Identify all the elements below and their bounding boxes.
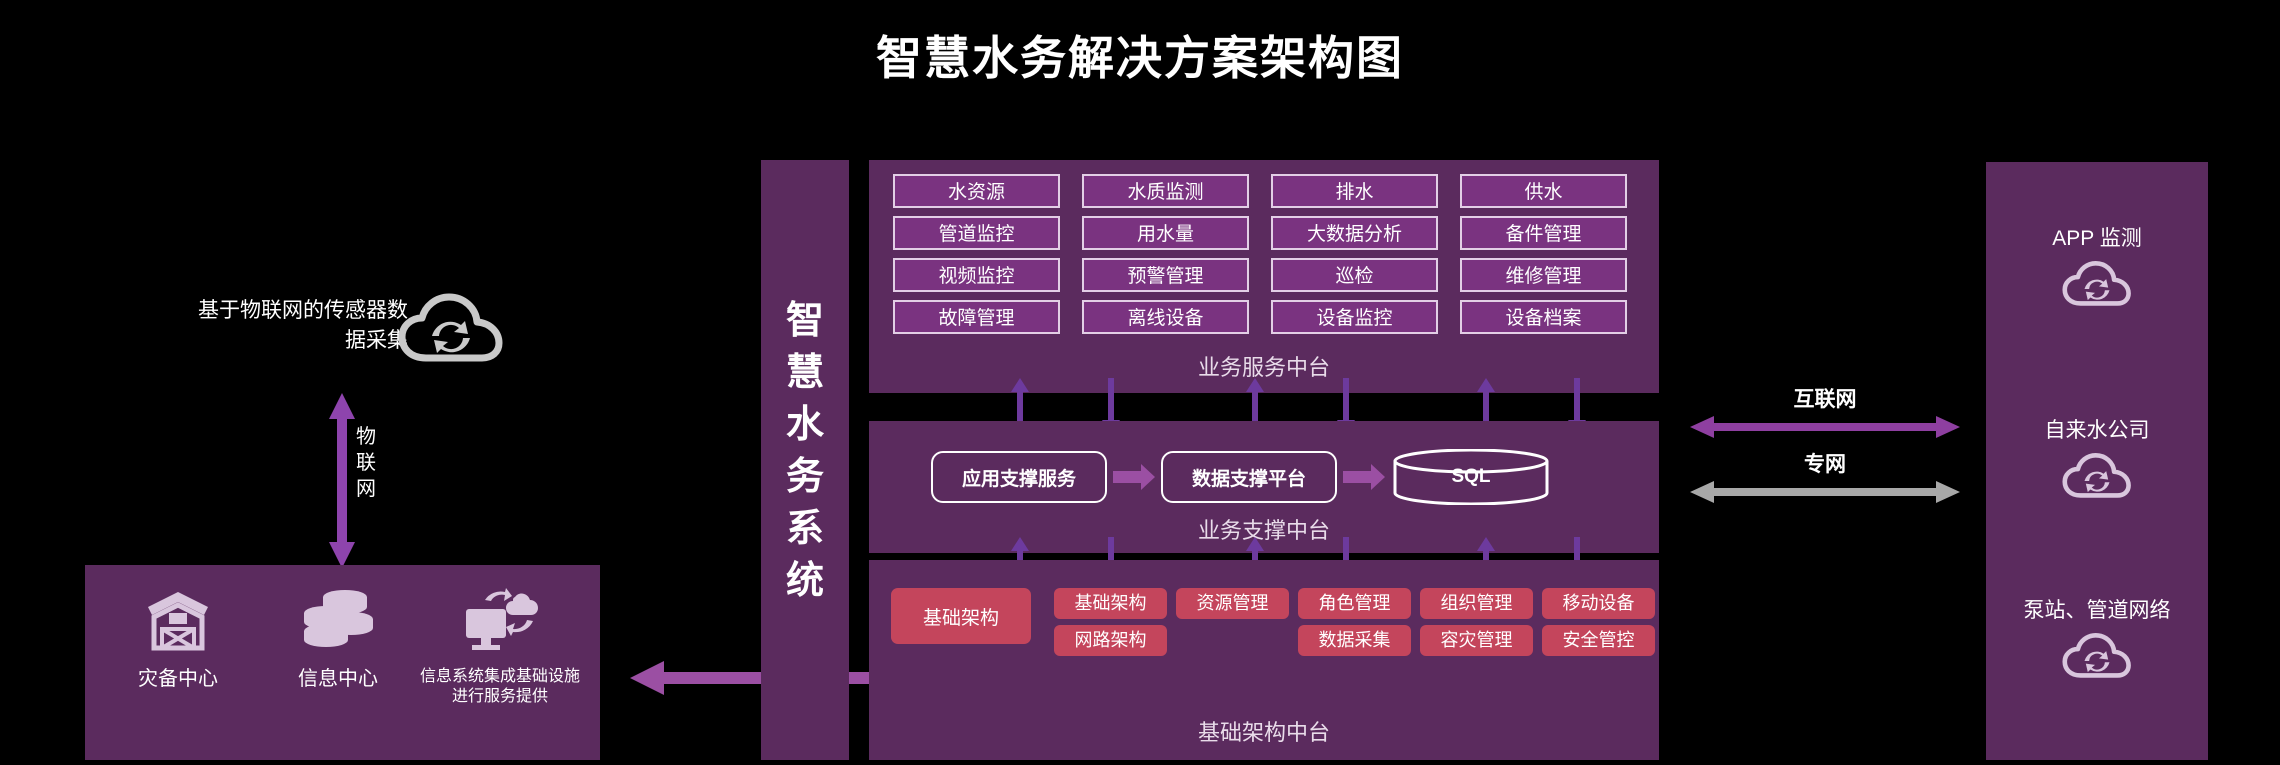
private-network-link-label: 专网 bbox=[1660, 448, 1990, 478]
monitor-cloud-sync-icon bbox=[415, 583, 585, 657]
infrastructure-card[interactable]: 角色管理 bbox=[1298, 588, 1411, 619]
infrastructure-card[interactable]: 资源管理 bbox=[1176, 588, 1289, 619]
service-card[interactable]: 设备档案 bbox=[1460, 300, 1627, 334]
cloud-sync-icon bbox=[398, 292, 504, 368]
support-node-app[interactable]: 应用支撑服务 bbox=[931, 451, 1107, 503]
support-flow-arrow bbox=[1337, 449, 1391, 505]
iot-arrow-label: 物联网 bbox=[352, 424, 380, 502]
service-card[interactable]: 备件管理 bbox=[1460, 216, 1627, 250]
left-panel-item-label: 灾备中心 bbox=[93, 667, 263, 692]
infrastructure-card[interactable]: 网路架构 bbox=[1054, 625, 1167, 656]
left-panel-item-sysint[interactable]: 信息系统集成基础设施进行服务提供 bbox=[415, 583, 585, 707]
infrastructure-layer-label: 基础架构中台 bbox=[869, 715, 1659, 747]
support-node-data[interactable]: 数据支撑平台 bbox=[1161, 451, 1337, 503]
banner-char: 水 bbox=[761, 399, 849, 451]
database-stack-icon bbox=[253, 583, 423, 657]
right-panel-item-label: APP 监测 bbox=[1986, 222, 2208, 252]
left-panel-item-dr-center[interactable]: 灾备中心 bbox=[93, 583, 263, 692]
service-card[interactable]: 维修管理 bbox=[1460, 258, 1627, 292]
support-flow-arrow bbox=[1107, 449, 1161, 505]
internet-link-arrow bbox=[1690, 413, 1960, 441]
business-service-layer-panel: 水资源 水质监测 排水 供水 管道监控 用水量 大数据分析 备件管理 视频监控 … bbox=[869, 160, 1659, 393]
infrastructure-card[interactable]: 基础架构 bbox=[1054, 588, 1167, 619]
service-card[interactable]: 水资源 bbox=[893, 174, 1060, 208]
internet-link-label: 互联网 bbox=[1660, 383, 1990, 413]
service-card[interactable]: 排水 bbox=[1271, 174, 1438, 208]
cloud-sync-icon bbox=[1986, 632, 2208, 682]
banner-char: 务 bbox=[761, 451, 849, 503]
warehouse-icon bbox=[93, 583, 263, 657]
infrastructure-card[interactable]: 移动设备 bbox=[1542, 588, 1655, 619]
private-network-link-arrow bbox=[1690, 478, 1960, 506]
cloud-sync-icon bbox=[1986, 260, 2208, 310]
right-panel-item-pump-station[interactable]: 泵站、管道网络 bbox=[1986, 594, 2208, 682]
service-card[interactable]: 用水量 bbox=[1082, 216, 1249, 250]
business-support-layer-panel: 应用支撑服务 数据支撑平台 SQL 业务支撑中台 bbox=[869, 421, 1659, 553]
right-panel-item-app[interactable]: APP 监测 bbox=[1986, 222, 2208, 310]
sql-label: SQL bbox=[1391, 449, 1551, 505]
right-panel-item-label: 自来水公司 bbox=[1986, 414, 2208, 444]
banner-char: 智 bbox=[761, 295, 849, 347]
service-card[interactable]: 设备监控 bbox=[1271, 300, 1438, 334]
infrastructure-primary-card[interactable]: 基础架构 bbox=[891, 588, 1031, 644]
infrastructure-card-grid: 基础架构 资源管理 角色管理 组织管理 移动设备 网路架构 数据采集 容灾管理 … bbox=[1054, 588, 1655, 656]
left-panel-item-label: 信息中心 bbox=[253, 667, 423, 692]
sql-database-cylinder[interactable]: SQL bbox=[1391, 449, 1551, 505]
service-card[interactable]: 预警管理 bbox=[1082, 258, 1249, 292]
service-card[interactable]: 大数据分析 bbox=[1271, 216, 1438, 250]
page-title: 智慧水务解决方案架构图 bbox=[0, 22, 2280, 88]
service-layer-label: 业务服务中台 bbox=[869, 350, 1659, 382]
infrastructure-card[interactable]: 数据采集 bbox=[1298, 625, 1411, 656]
infrastructure-card[interactable]: 安全管控 bbox=[1542, 625, 1655, 656]
service-card[interactable]: 水质监测 bbox=[1082, 174, 1249, 208]
infrastructure-card-placeholder bbox=[1176, 625, 1289, 656]
left-infrastructure-panel: 灾备中心 信息中心 bbox=[85, 565, 600, 760]
service-card[interactable]: 故障管理 bbox=[893, 300, 1060, 334]
service-card[interactable]: 供水 bbox=[1460, 174, 1627, 208]
support-layer-label: 业务支撑中台 bbox=[869, 513, 1659, 545]
left-panel-item-label: 信息系统集成基础设施进行服务提供 bbox=[415, 667, 585, 707]
iot-caption: 基于物联网的传感器数据采集 bbox=[193, 296, 408, 356]
banner-char: 统 bbox=[761, 555, 849, 607]
banner-char: 慧 bbox=[761, 347, 849, 399]
right-panel-item-label: 泵站、管道网络 bbox=[1986, 594, 2208, 624]
banner-char: 系 bbox=[761, 503, 849, 555]
left-panel-item-info-center[interactable]: 信息中心 bbox=[253, 583, 423, 692]
support-node-row: 应用支撑服务 数据支撑平台 SQL bbox=[931, 449, 1597, 505]
service-card[interactable]: 离线设备 bbox=[1082, 300, 1249, 334]
system-banner: 智 慧 水 务 系 统 bbox=[761, 160, 849, 760]
service-card[interactable]: 巡检 bbox=[1271, 258, 1438, 292]
system-banner-text: 智 慧 水 务 系 统 bbox=[761, 295, 849, 607]
service-card[interactable]: 管道监控 bbox=[893, 216, 1060, 250]
infrastructure-card[interactable]: 组织管理 bbox=[1420, 588, 1533, 619]
business-service-card-grid: 水资源 水质监测 排水 供水 管道监控 用水量 大数据分析 备件管理 视频监控 … bbox=[893, 174, 1627, 334]
right-endpoints-panel: APP 监测 自来水公司 泵站、管道网络 bbox=[1986, 162, 2208, 760]
cloud-sync-icon bbox=[1986, 452, 2208, 502]
right-panel-item-water-company[interactable]: 自来水公司 bbox=[1986, 414, 2208, 502]
service-card[interactable]: 视频监控 bbox=[893, 258, 1060, 292]
infrastructure-card[interactable]: 容灾管理 bbox=[1420, 625, 1533, 656]
infrastructure-layer-panel: 基础架构 基础架构 资源管理 角色管理 组织管理 移动设备 网路架构 数据采集 … bbox=[869, 560, 1659, 760]
